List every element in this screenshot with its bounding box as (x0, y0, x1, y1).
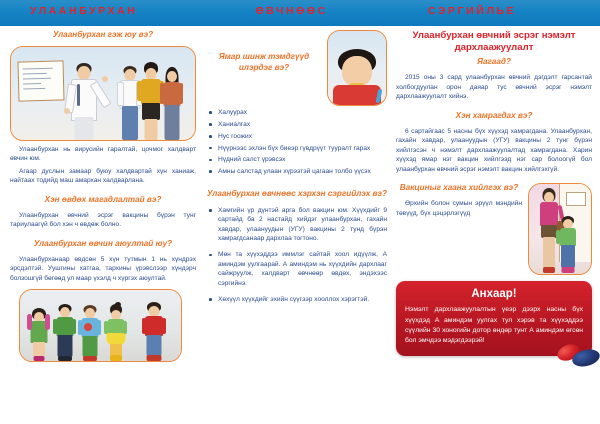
child-figure-3 (80, 305, 99, 361)
header-banner: УЛААНБУРХАН ӨВЧНӨӨС СЭРГИЙЛЬЕ (0, 0, 600, 26)
right-section3-heading: Вакциныг хаана хийлгэх вэ? (396, 183, 522, 194)
left-section3-paragraph-1: Улаанбурханаар өвдсөн 5 хүн тутмын 1 нь … (10, 255, 196, 284)
symptoms-list: Халуурах Ханиалгах Нус гоожих Нүүрнээс э… (207, 108, 387, 177)
left-section2-paragraph-1: Улаанбурхан өвчний эсрэг вакцины бүрэн т… (10, 211, 196, 230)
left-section2-heading: Хэн өвдөх магадлалтай вэ? (10, 195, 196, 206)
mid-section1-header-row: Ямар шинж тэмдгүүд илэрдэг вэ? (207, 30, 387, 106)
child-figure-5 (144, 302, 164, 361)
child-figure-4 (106, 306, 125, 361)
list-item: Хөхүүл хүүхдийг эхийн сүүгээр хооллох хэ… (207, 295, 387, 304)
whiteboard-icon (17, 60, 64, 101)
child-figure-1 (29, 308, 48, 361)
list-item: Нүүрнээс эхлэн бүх биеэр гүвдрүүт туурал… (207, 144, 387, 153)
mother-and-child-at-clinic-illustration (528, 183, 592, 275)
list-item: Нус гоожих (207, 132, 387, 141)
doctor-figure (69, 62, 99, 140)
left-section1-heading: Улаанбурхан гэж юу вэ? (10, 30, 196, 41)
banner-word-1: УЛААНБУРХАН (30, 5, 137, 17)
banner-word-2: ӨВЧНӨӨС (255, 5, 327, 17)
mid-section2-heading: Улаанбурхан өвчнөөс хэрхэн сэргийлэх вэ? (207, 189, 387, 200)
boy-figure (331, 49, 383, 105)
right-section1-heading: Яагаад? (396, 57, 592, 68)
listener-man-figure (119, 66, 141, 140)
sick-boy-with-rash-illustration (327, 30, 387, 106)
list-item: Мөн та хүүхэддээ иммлэг сайтай хоол идүү… (207, 250, 387, 287)
middle-column: Ямар шинж тэмдгүүд илэрдэг вэ? Халуурах … (207, 30, 387, 311)
list-item: Амны салстад улаан хүрээтэй цагаан толбо… (207, 167, 387, 176)
left-section3-heading: Улаанбурхан өвчин аюултай юу? (10, 239, 196, 250)
right-section2-heading: Хэн хамрагдах вэ? (396, 111, 592, 122)
alert-title: Анхаар! (405, 288, 583, 300)
child-figure-2 (55, 304, 74, 361)
vitamin-capsules-illustration (557, 343, 600, 369)
left-section1-paragraph-1: Улаанбурхан нь вирусийн гаралтай, цочмог… (10, 145, 196, 164)
list-item: Нүдний салст үрэвсэх (207, 155, 387, 164)
listener-woman-yellow-figure (139, 64, 162, 140)
right-section1-paragraph-1: 2015 оны 3 сард улаанбурхан өвчний дэгдэ… (396, 73, 592, 102)
listener-woman-orange-figure (161, 67, 182, 140)
attention-alert-box: Анхаар! Нэмэлт дархлаажуулалтын үеэр дээ… (396, 281, 592, 355)
left-section1-paragraph-2: Агаар дуслын замаар буюу халдвартай хүн … (10, 167, 196, 186)
right-section2-paragraph-1: 6 сартайгаас 5 насны бүх хүүхэд хамрагда… (396, 127, 592, 175)
list-item: Хамгийн үр дүнтэй арга бол вакцин юм. Хү… (207, 206, 387, 243)
right-section3-row: Вакциныг хаана хийлгэх вэ? Өрхийн болон … (396, 183, 592, 275)
right-column-title: Улаанбурхан өвчний эсрэг нэмэлт дархлааж… (396, 30, 592, 53)
prevention-list: Хамгийн үр дүнтэй арга бол вакцин юм. Хү… (207, 206, 387, 304)
mid-section1-heading: Ямар шинж тэмдгүүд илэрдэг вэ? (207, 52, 321, 74)
banner-word-3: СЭРГИЙЛЬЕ (428, 5, 516, 17)
banner-title-row: УЛААНБУРХАН ӨВЧНӨӨС СЭРГИЙЛЬЕ (0, 0, 600, 22)
list-item: Халуурах (207, 108, 387, 117)
right-column: Улаанбурхан өвчний эсрэг нэмэлт дархлааж… (396, 30, 592, 356)
list-item: Ханиалгах (207, 120, 387, 129)
left-column: Улаанбурхан гэж юу вэ? (10, 30, 196, 362)
child-at-clinic-figure (558, 216, 577, 274)
alert-text: Нэмэлт дархлаажуулалтын үеэр дээрх насны… (405, 305, 583, 346)
right-section3-paragraph-1: Өрхийн болон сумын эрүүл мэндийн төвүүд,… (396, 199, 522, 218)
doctor-explaining-illustration (10, 46, 196, 141)
group-of-children-illustration (19, 289, 182, 362)
